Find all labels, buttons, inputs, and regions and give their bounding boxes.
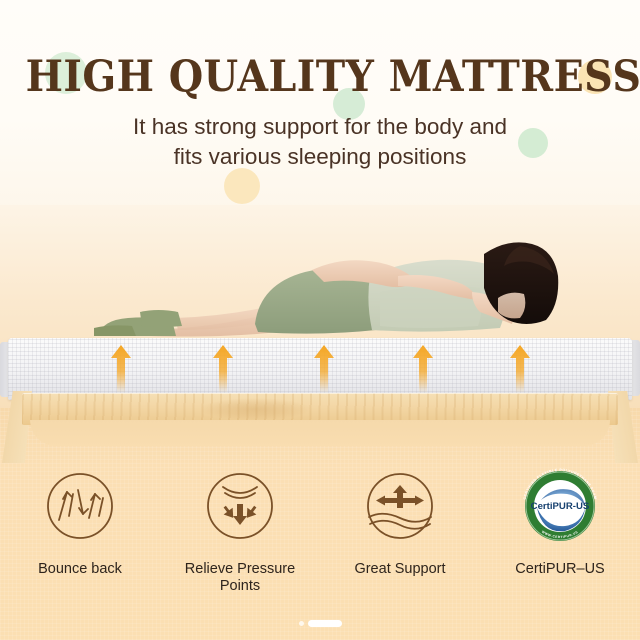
pagination-active-pill[interactable]	[308, 620, 342, 627]
support-arrow	[212, 345, 234, 393]
feature-item-bounce-back[interactable]: Bounce back	[0, 466, 160, 578]
feature-label: Bounce back	[38, 561, 122, 578]
page-title: HIGH QUALITY MATTRESS	[26, 52, 615, 102]
feature-label: Relieve PressurePoints	[185, 561, 295, 595]
great-support-icon	[357, 466, 443, 552]
feature-label: CertiPUR–US	[515, 561, 604, 578]
feature-item-relieve-pressure[interactable]: Relieve PressurePoints	[160, 466, 320, 595]
support-arrow	[412, 345, 434, 393]
product-banner: HIGH QUALITY MATTRESS It has strong supp…	[0, 0, 640, 640]
subtitle-line-1: It has strong support for the body and	[0, 112, 640, 142]
support-arrow	[110, 345, 132, 393]
feature-list: Bounce back Relieve PressurePoints	[0, 466, 640, 596]
feature-item-certipur[interactable]: CertiPUR-US CERTIFIED FLEXIBLE POLYURETH…	[480, 466, 640, 578]
bed-frame-apron	[30, 420, 610, 446]
support-arrow	[313, 345, 335, 393]
subtitle-line-2: fits various sleeping positions	[0, 142, 640, 172]
certipur-badge-icon: CertiPUR-US CERTIFIED FLEXIBLE POLYURETH…	[517, 466, 603, 552]
feature-label: Great Support	[354, 561, 445, 578]
background-top	[0, 0, 640, 215]
wood-grain-knot	[200, 398, 310, 420]
bounce-back-icon	[37, 466, 123, 552]
badge-center-text: CertiPUR-US	[531, 501, 590, 512]
pagination[interactable]	[0, 620, 640, 627]
support-arrow	[509, 345, 531, 393]
person-illustration	[80, 232, 560, 342]
pagination-dot[interactable]	[299, 621, 304, 626]
page-subtitle: It has strong support for the body and f…	[0, 112, 640, 172]
deco-circle-cream-2	[224, 168, 260, 204]
feature-item-great-support[interactable]: Great Support	[320, 466, 480, 578]
relieve-pressure-icon	[197, 466, 283, 552]
